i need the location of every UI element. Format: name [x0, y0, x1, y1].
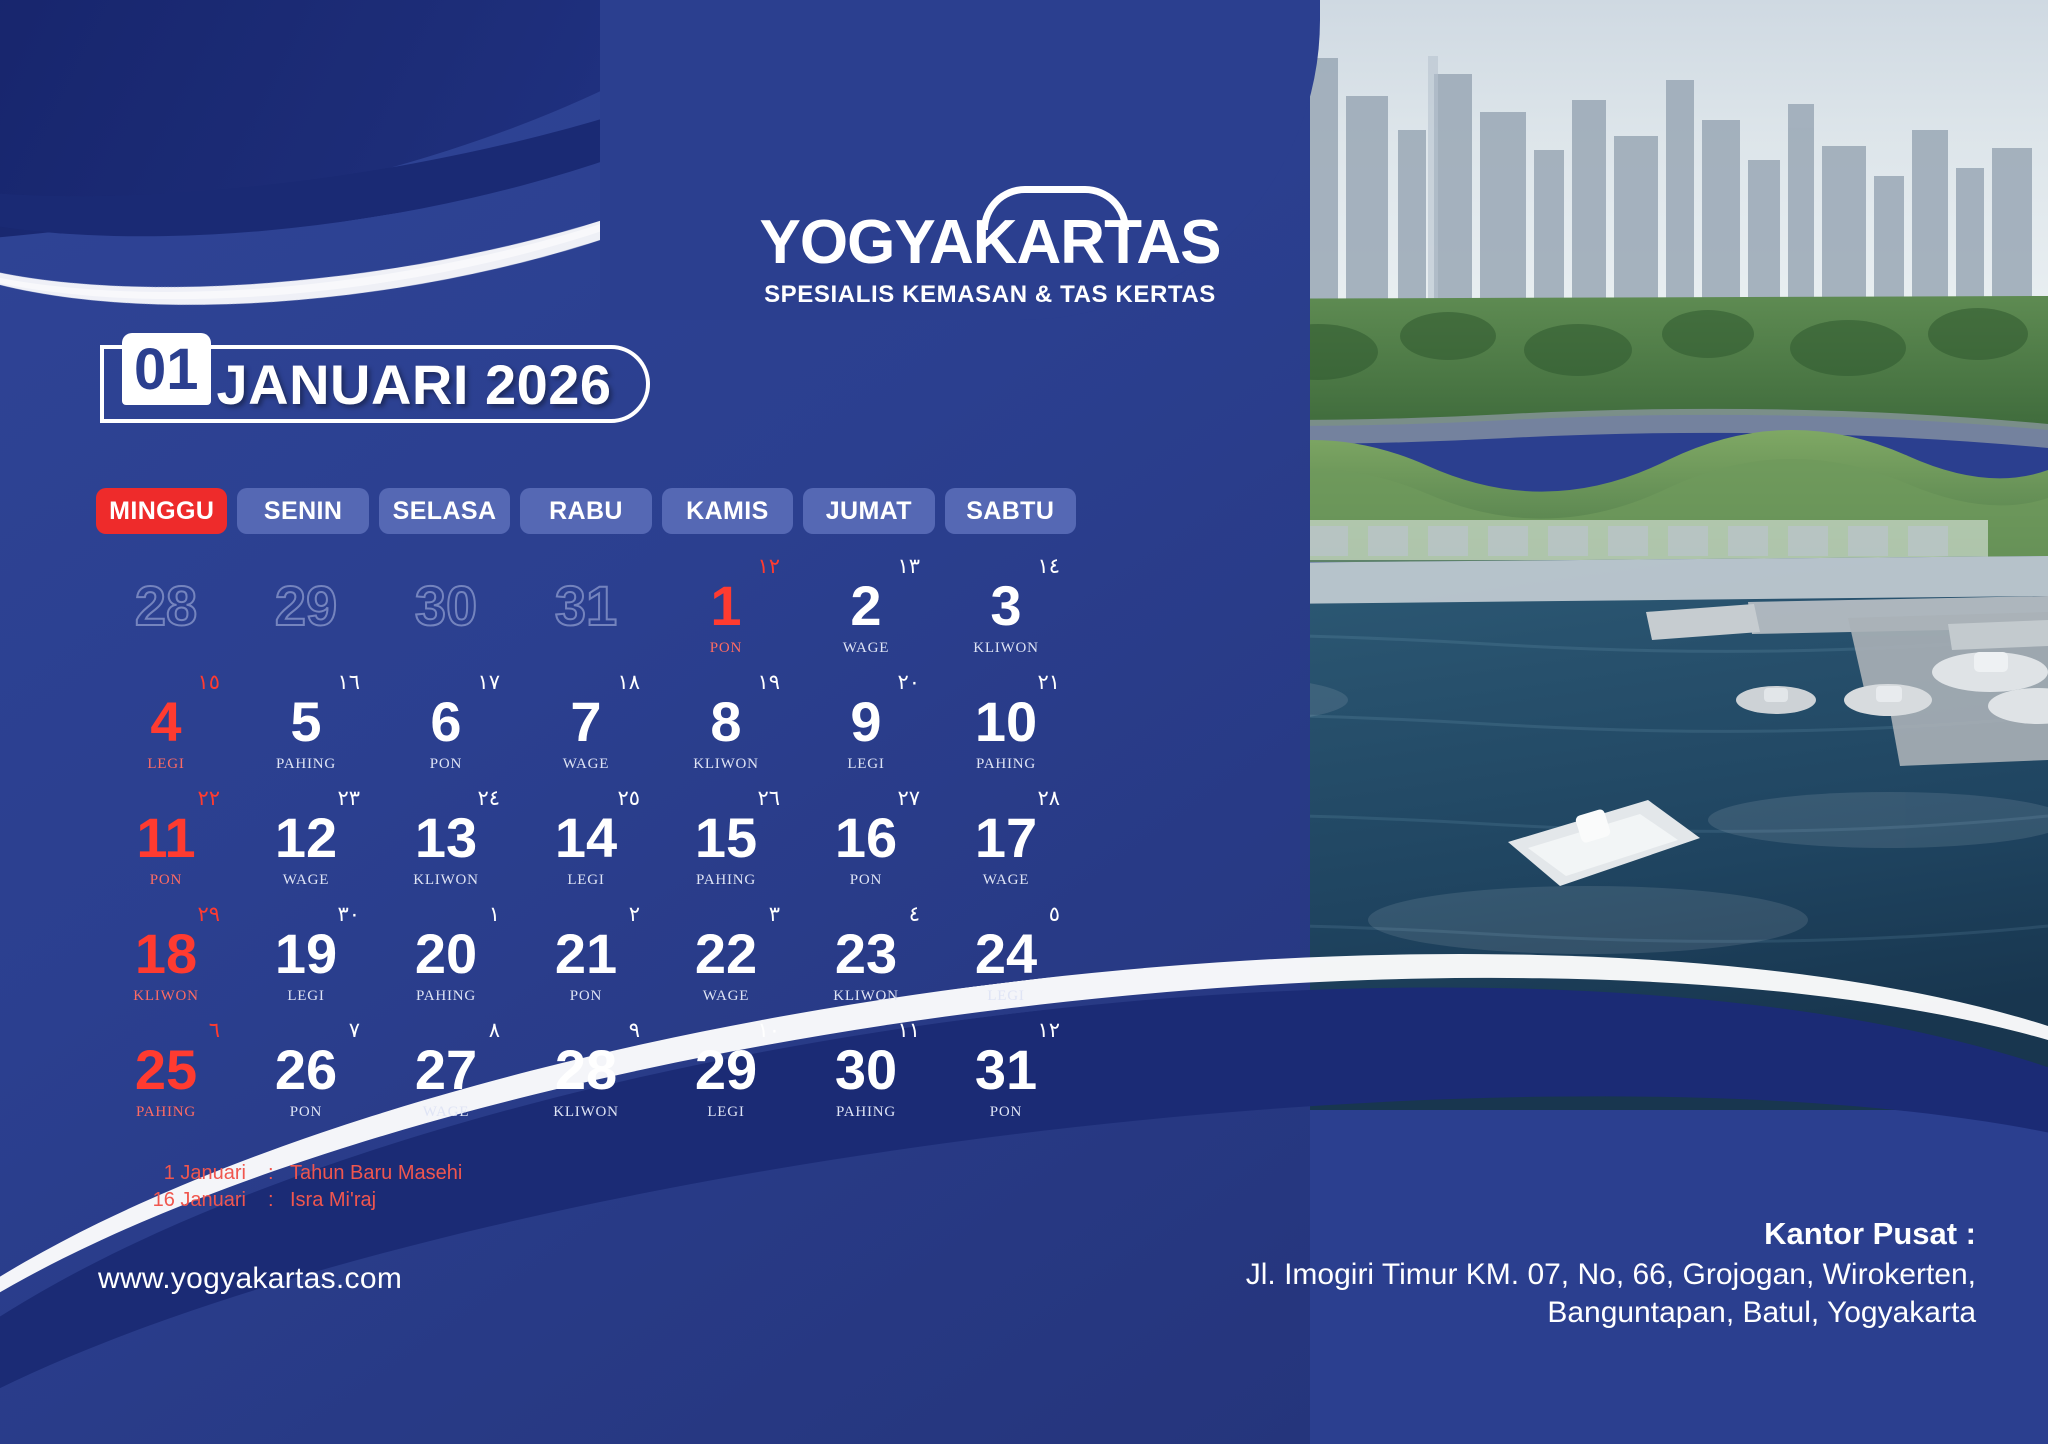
day-number: 30 — [376, 578, 516, 634]
pasaran-label: WAGE — [516, 756, 656, 773]
day-number: 30 — [796, 1042, 936, 1098]
date-cell: ٢٦15PAHING — [656, 788, 796, 904]
day-number: 3 — [936, 578, 1076, 634]
pasaran-label: LEGI — [516, 872, 656, 889]
date-cell: ٢٤13KLIWON — [376, 788, 516, 904]
day-number: 5 — [236, 694, 376, 750]
holiday-date: 16 Januari — [128, 1187, 268, 1214]
hijri-date: ٩ — [629, 1020, 640, 1041]
date-cell: ١٤3KLIWON — [936, 556, 1076, 672]
holiday-note: 1 Januari:Tahun Baru Masehi — [128, 1160, 462, 1187]
day-number: 6 — [376, 694, 516, 750]
pasaran-label: WAGE — [936, 872, 1076, 889]
pasaran-label: PAHING — [656, 872, 796, 889]
pasaran-label: KLIWON — [936, 640, 1076, 657]
weekday-minggu: MINGGU — [96, 488, 227, 534]
month-number: 01 — [122, 333, 211, 405]
holiday-date: 1 Januari — [128, 1160, 268, 1187]
hijri-date: ٥ — [1049, 904, 1060, 925]
hijri-date: ١٩ — [757, 672, 780, 693]
pasaran-label: KLIWON — [96, 988, 236, 1005]
date-cell: ٢٢11PON — [96, 788, 236, 904]
weekday-rabu: RABU — [520, 488, 651, 534]
hijri-date: ١٤ — [1037, 556, 1060, 577]
pasaran-label: PON — [516, 988, 656, 1005]
day-number: 17 — [936, 810, 1076, 866]
weekday-header-row: MINGGUSENINSELASARABUKAMISJUMATSABTU — [96, 488, 1076, 534]
brand-logo: YOGYAKARTAS SPESIALIS KEMASAN & TAS KERT… — [745, 212, 1235, 309]
day-number: 10 — [936, 694, 1076, 750]
calendar-page: YOGYAKARTAS SPESIALIS KEMASAN & TAS KERT… — [0, 0, 2048, 1444]
hijri-date: ٣ — [769, 904, 780, 925]
hijri-date: ١٠ — [757, 1020, 780, 1041]
hijri-date: ٢٨ — [1037, 788, 1060, 809]
day-number: 31 — [936, 1042, 1076, 1098]
month-name: JANUARI 2026 — [211, 349, 612, 419]
hijri-date: ١٨ — [617, 672, 640, 693]
pasaran-label: KLIWON — [376, 872, 516, 889]
date-cell: ١٢31PON — [936, 1020, 1076, 1136]
date-cell: ٢٠9LEGI — [796, 672, 936, 788]
hijri-date: ١٦ — [337, 672, 360, 693]
day-number: 26 — [236, 1042, 376, 1098]
holiday-name: Isra Mi'raj — [290, 1187, 376, 1214]
date-cell: ٢٥14LEGI — [516, 788, 656, 904]
website-url[interactable]: www.yogyakartas.com — [98, 1262, 402, 1296]
date-cell: ٨27WAGE — [376, 1020, 516, 1136]
day-number: 9 — [796, 694, 936, 750]
hijri-date: ٤ — [909, 904, 920, 925]
pasaran-label: PON — [936, 1104, 1076, 1121]
date-cell: ١٩8KLIWON — [656, 672, 796, 788]
day-number: 28 — [516, 1042, 656, 1098]
date-cell: ٣22WAGE — [656, 904, 796, 1020]
pasaran-label: PON — [376, 756, 516, 773]
month-title-pill: 01 JANUARI 2026 — [100, 345, 650, 423]
pasaran-label: WAGE — [376, 1104, 516, 1121]
holiday-separator: : — [268, 1187, 290, 1214]
hijri-date: ٢١ — [1037, 672, 1060, 693]
day-number: 21 — [516, 926, 656, 982]
day-number: 16 — [796, 810, 936, 866]
brand-tagline: SPESIALIS KEMASAN & TAS KERTAS — [745, 281, 1235, 309]
date-cell: ٢٧16PON — [796, 788, 936, 904]
weekday-sabtu: SABTU — [945, 488, 1076, 534]
date-cell: ١٦5PAHING — [236, 672, 376, 788]
hijri-date: ٣٠ — [337, 904, 360, 925]
hijri-date: ١٥ — [197, 672, 220, 693]
day-number: 4 — [96, 694, 236, 750]
hijri-date: ١٣ — [897, 556, 920, 577]
date-cell: ٩28KLIWON — [516, 1020, 656, 1136]
hijri-date: ١٧ — [477, 672, 500, 693]
pasaran-label: LEGI — [96, 756, 236, 773]
pasaran-label: PON — [236, 1104, 376, 1121]
hijri-date: ٨ — [489, 1020, 500, 1041]
date-cell: ١20PAHING — [376, 904, 516, 1020]
pasaran-label: PAHING — [96, 1104, 236, 1121]
weekday-kamis: KAMIS — [662, 488, 793, 534]
date-cell: ٧26PON — [236, 1020, 376, 1136]
weekday-selasa: SELASA — [379, 488, 510, 534]
day-number: 2 — [796, 578, 936, 634]
hijri-date: ٢ — [629, 904, 640, 925]
hijri-date: ١٢ — [757, 556, 780, 577]
day-number: 20 — [376, 926, 516, 982]
day-number: 24 — [936, 926, 1076, 982]
pasaran-label: PAHING — [936, 756, 1076, 773]
day-number: 23 — [796, 926, 936, 982]
day-number: 18 — [96, 926, 236, 982]
date-cell: 30 — [376, 556, 516, 672]
hijri-date: ٧ — [349, 1020, 360, 1041]
pasaran-label: KLIWON — [796, 988, 936, 1005]
date-cell: ٢٣12WAGE — [236, 788, 376, 904]
hijri-date: ٢٣ — [337, 788, 360, 809]
date-cell: ٢١10PAHING — [936, 672, 1076, 788]
pasaran-label: KLIWON — [516, 1104, 656, 1121]
day-number: 14 — [516, 810, 656, 866]
date-cell: 31 — [516, 556, 656, 672]
date-cell: ٣٠19LEGI — [236, 904, 376, 1020]
pasaran-label: PAHING — [796, 1104, 936, 1121]
hijri-date: ٢٩ — [197, 904, 220, 925]
day-number: 19 — [236, 926, 376, 982]
pasaran-label: PON — [796, 872, 936, 889]
calendar-grid: 28293031١٢1PON١٣2WAGE١٤3KLIWON١٥4LEGI١٦5… — [96, 556, 1076, 1136]
weekday-senin: SENIN — [237, 488, 368, 534]
day-number: 28 — [96, 578, 236, 634]
pasaran-label: PAHING — [236, 756, 376, 773]
day-number: 7 — [516, 694, 656, 750]
holiday-separator: : — [268, 1160, 290, 1187]
date-cell: 29 — [236, 556, 376, 672]
office-address: Kantor Pusat : Jl. Imogiri Timur KM. 07,… — [1036, 1216, 1976, 1331]
pasaran-label: WAGE — [796, 640, 936, 657]
date-cell: ٥24LEGI — [936, 904, 1076, 1020]
pasaran-label: PON — [656, 640, 796, 657]
day-number: 8 — [656, 694, 796, 750]
date-cell: ١٣2WAGE — [796, 556, 936, 672]
day-number: 29 — [656, 1042, 796, 1098]
hijri-date: ٢٠ — [897, 672, 920, 693]
date-cell: ١٨7WAGE — [516, 672, 656, 788]
address-line-2: Banguntapan, Batul, Yogyakarta — [1036, 1294, 1976, 1332]
day-number: 15 — [656, 810, 796, 866]
day-number: 27 — [376, 1042, 516, 1098]
date-cell: ٢21PON — [516, 904, 656, 1020]
day-number: 25 — [96, 1042, 236, 1098]
hijri-date: ٢٤ — [477, 788, 500, 809]
date-cell: ١٧6PON — [376, 672, 516, 788]
pasaran-label: PON — [96, 872, 236, 889]
hijri-date: ٢٢ — [197, 788, 220, 809]
pasaran-label: LEGI — [656, 1104, 796, 1121]
hijri-date: ٢٥ — [617, 788, 640, 809]
pasaran-label: LEGI — [236, 988, 376, 1005]
pasaran-label: LEGI — [796, 756, 936, 773]
day-number: 13 — [376, 810, 516, 866]
holiday-notes: 1 Januari:Tahun Baru Masehi16 Januari:Is… — [128, 1160, 462, 1214]
date-cell: ٦25PAHING — [96, 1020, 236, 1136]
date-cell: ١٢1PON — [656, 556, 796, 672]
day-number: 1 — [656, 578, 796, 634]
day-number: 29 — [236, 578, 376, 634]
pasaran-label: WAGE — [236, 872, 376, 889]
pasaran-label: PAHING — [376, 988, 516, 1005]
date-cell: ١١30PAHING — [796, 1020, 936, 1136]
hijri-date: ١١ — [897, 1020, 920, 1041]
date-cell: ١٥4LEGI — [96, 672, 236, 788]
day-number: 11 — [96, 810, 236, 866]
hijri-date: ١٢ — [1037, 1020, 1060, 1041]
hijri-date: ٢٧ — [897, 788, 920, 809]
day-number: 22 — [656, 926, 796, 982]
holiday-note: 16 Januari:Isra Mi'raj — [128, 1187, 462, 1214]
pasaran-label: LEGI — [936, 988, 1076, 1005]
day-number: 31 — [516, 578, 656, 634]
hijri-date: ١ — [489, 904, 500, 925]
arch-icon — [981, 186, 1129, 230]
weekday-jumat: JUMAT — [803, 488, 934, 534]
date-cell: ١٠29LEGI — [656, 1020, 796, 1136]
holiday-name: Tahun Baru Masehi — [290, 1160, 462, 1187]
hijri-date: ٢٦ — [757, 788, 780, 809]
address-line-1: Jl. Imogiri Timur KM. 07, No, 66, Grojog… — [1036, 1256, 1976, 1294]
office-title: Kantor Pusat : — [1036, 1216, 1976, 1252]
date-cell: ٢٨17WAGE — [936, 788, 1076, 904]
day-number: 12 — [236, 810, 376, 866]
hijri-date: ٦ — [209, 1020, 220, 1041]
pasaran-label: WAGE — [656, 988, 796, 1005]
date-cell: ٢٩18KLIWON — [96, 904, 236, 1020]
date-cell: ٤23KLIWON — [796, 904, 936, 1020]
pasaran-label: KLIWON — [656, 756, 796, 773]
date-cell: 28 — [96, 556, 236, 672]
